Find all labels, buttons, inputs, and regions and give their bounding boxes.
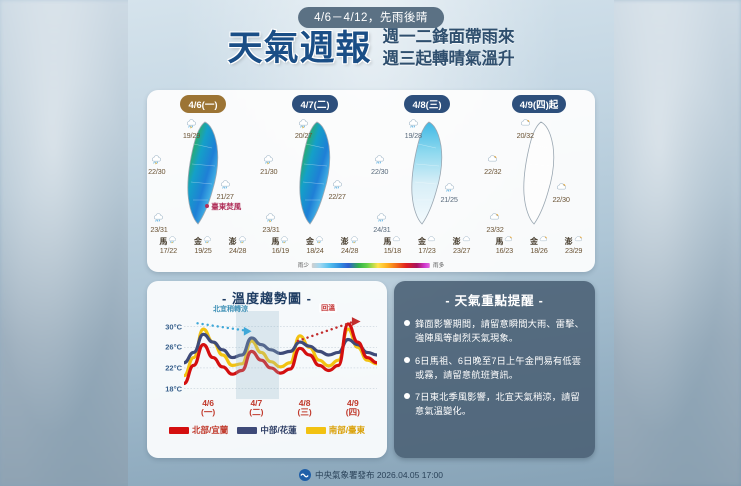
temp-value: 19/28 [405, 131, 422, 140]
offshore-islands-row: 馬17/22金19/25澎24/28 [151, 235, 255, 255]
region-temp-marker: 24/31 [373, 212, 390, 234]
region-temp-marker: 23/32 [486, 212, 503, 234]
chart-canvas: 北宜稍轉涼 回溫 [184, 311, 377, 399]
island-temp: 17/22 [159, 247, 177, 255]
x-axis-weekday: (三) [281, 408, 329, 417]
weather-highlights-card: - 天氣重點提醒 - 鋒面影響期間，請留意瞬間大雨、雷擊、強陣風等劇烈天氣現象。… [394, 281, 595, 458]
region-temp-marker: 19/29 [183, 118, 200, 140]
x-axis-weekday: (四) [329, 408, 377, 417]
taiwan-map: 19/2922/3021/2723/31臺東焚風 [147, 116, 259, 232]
offshore-island-item: 金18/26 [530, 235, 548, 255]
weather-rain-icon [183, 118, 200, 132]
bullet-icon [404, 393, 410, 399]
island-name: 馬 [271, 235, 289, 246]
region-temp-marker: 22/27 [328, 179, 345, 201]
temp-value: 23/31 [262, 225, 279, 234]
weather-rain-icon [168, 236, 177, 246]
offshore-island-item: 金17/23 [418, 235, 436, 255]
region-temp-marker: 21/25 [440, 182, 457, 204]
left-blurred-backdrop [0, 0, 135, 486]
page-title: 天氣週報 [227, 31, 371, 66]
weather-shower-icon [328, 179, 345, 193]
rainfall-legend-more: 雨多 [433, 261, 444, 269]
temp-value: 22/30 [552, 195, 569, 204]
weather-rain-icon [280, 236, 289, 246]
taiwan-map: 20/2721/3022/2723/31 [259, 116, 371, 232]
weather-cloud-icon [462, 236, 471, 246]
region-temp-marker: 19/28 [405, 118, 422, 140]
bullet-icon [404, 357, 410, 363]
weather-rain-to-cloud-icon [371, 154, 388, 168]
offshore-island-item: 金18/24 [306, 235, 324, 255]
day-badge[interactable]: 4/7(二) [292, 95, 337, 113]
offshore-island-item: 澎24/28 [341, 235, 359, 255]
day-badge[interactable]: 4/6(一) [180, 95, 225, 113]
rainfall-color-bar [312, 263, 430, 268]
island-name: 金 [418, 235, 436, 246]
chart-annotation-arrows [184, 311, 377, 399]
weather-rain-icon [315, 236, 324, 246]
island-name: 澎 [453, 235, 471, 246]
y-axis-tick: 26°C [165, 343, 182, 352]
subtitle: 週一二鋒面帶雨來 週三起轉晴氣溫升 [383, 27, 515, 71]
x-axis-tick: 4/7(二) [232, 399, 280, 419]
weather-rain-icon [295, 118, 312, 132]
weather-cloud-icon [427, 236, 436, 246]
island-temp: 16/19 [271, 247, 289, 255]
legend-label: 中部/花蓮 [260, 424, 296, 436]
forecast-day-column-4: 4/9(四)起20/3222/3222/3023/32馬16/23金18/26澎… [483, 90, 595, 272]
region-temp-marker: 20/27 [295, 118, 312, 140]
island-name: 金 [194, 235, 212, 246]
note-item: 6日馬祖、6日晚至7日上午金門易有低雲或霧，請留意航班資訊。 [404, 354, 585, 383]
weather-rain-icon [238, 236, 247, 246]
forecast-day-column-1: 4/6(一)19/2922/3021/2723/31臺東焚風馬17/22金19/… [147, 90, 259, 272]
island-temp: 18/24 [306, 247, 324, 255]
footer: 中央氣象署發布 2026.04.05 17:00 [128, 469, 614, 481]
note-text: 7日東北季風影響，北宜天氣稍涼，請留意氣溫變化。 [415, 390, 585, 419]
taiwan-map: 19/2822/3021/2524/31 [371, 116, 483, 232]
day-badge[interactable]: 4/8(三) [404, 95, 449, 113]
weather-poster: 4/6－4/12，先雨後晴 天氣週報 週一二鋒面帶雨來 週三起轉晴氣溫升 4/6… [128, 0, 614, 486]
region-temp-marker: 22/32 [484, 154, 501, 176]
weather-sun-cloud-icon [539, 236, 548, 246]
region-temp-marker: 22/30 [148, 154, 165, 176]
temp-value: 23/31 [150, 225, 167, 234]
weather-rain-icon [203, 236, 212, 246]
legend-label: 南部/臺東 [329, 424, 365, 436]
chart-x-axis: 4/6(一)4/7(二)4/8(三)4/9(四) [184, 399, 377, 419]
x-axis-tick: 4/6(一) [184, 399, 232, 419]
temp-value: 21/25 [440, 195, 457, 204]
legend-swatch [306, 427, 326, 434]
forecast-day-column-2: 4/7(二)20/2721/3022/2723/31馬16/19金18/24澎2… [259, 90, 371, 272]
notes-list: 鋒面影響期間，請留意瞬間大雨、雷擊、強陣風等劇烈天氣現象。6日馬祖、6日晚至7日… [404, 317, 585, 419]
island-temp: 15/18 [383, 247, 401, 255]
offshore-island-item: 澎23/29 [565, 235, 583, 255]
chart-y-axis: 30°C26°C22°C18°C [155, 311, 183, 399]
forecast-day-column-3: 4/8(三)19/2822/3021/2524/31馬15/18金17/23澎2… [371, 90, 483, 272]
offshore-island-item: 馬16/19 [271, 235, 289, 255]
annotation-warming: 回溫 [319, 303, 337, 313]
region-temp-marker: 21/27 [216, 179, 233, 201]
note-item: 鋒面影響期間，請留意瞬間大雨、雷擊、強陣風等劇烈天氣現象。 [404, 317, 585, 346]
weather-rain-to-cloud-icon [373, 212, 390, 226]
offshore-islands-row: 馬16/19金18/24澎24/28 [263, 235, 367, 255]
y-axis-tick: 18°C [165, 384, 182, 393]
note-text: 6日馬祖、6日晚至7日上午金門易有低雲或霧，請留意航班資訊。 [415, 354, 585, 383]
weather-cloud-icon [392, 236, 401, 246]
notes-title: - 天氣重點提醒 - [404, 290, 585, 309]
x-axis-tick: 4/9(四) [329, 399, 377, 419]
day-badge[interactable]: 4/9(四)起 [512, 95, 567, 113]
weather-sun-cloud-icon [486, 212, 503, 226]
weather-shower-icon [440, 182, 457, 196]
subtitle-line-2: 週三起轉晴氣溫升 [383, 49, 515, 71]
temp-value: 22/30 [371, 167, 388, 176]
island-temp: 24/28 [341, 247, 359, 255]
island-name: 澎 [565, 235, 583, 246]
bullet-icon [404, 320, 410, 326]
region-temp-marker: 22/30 [552, 182, 569, 204]
note-text: 鋒面影響期間，請留意瞬間大雨、雷擊、強陣風等劇烈天氣現象。 [415, 317, 585, 346]
chart-title: - 溫度趨勢圖 - [155, 288, 379, 307]
chart-legend: 北部/宜蘭中部/花蓮南部/臺東 [155, 424, 379, 436]
weather-rain-icon [262, 212, 279, 226]
weather-sun-cloud-icon [574, 236, 583, 246]
annotation-dot-icon [205, 204, 209, 208]
island-name: 馬 [495, 235, 513, 246]
island-temp: 19/25 [194, 247, 212, 255]
temp-value: 21/27 [216, 192, 233, 201]
weather-shower-icon [216, 179, 233, 193]
chart-legend-item[interactable]: 南部/臺東 [306, 424, 365, 436]
cwa-logo-icon [299, 469, 311, 481]
island-name: 金 [530, 235, 548, 246]
y-axis-tick: 30°C [165, 322, 182, 331]
weather-sun-cloud-icon [504, 236, 513, 246]
note-item: 7日東北季風影響，北宜天氣稍涼，請留意氣溫變化。 [404, 390, 585, 419]
y-axis-tick: 22°C [165, 363, 182, 372]
x-axis-weekday: (一) [184, 408, 232, 417]
x-axis-tick: 4/8(三) [281, 399, 329, 419]
offshore-island-item: 金19/25 [194, 235, 212, 255]
offshore-island-item: 澎24/28 [229, 235, 247, 255]
weather-rain-to-cloud-icon [405, 118, 422, 132]
date-range-pill: 4/6－4/12，先雨後晴 [298, 7, 444, 28]
offshore-island-item: 馬17/22 [159, 235, 177, 255]
weather-rain-icon [350, 236, 359, 246]
footer-text: 中央氣象署發布 2026.04.05 17:00 [315, 469, 443, 481]
offshore-island-item: 澎23/27 [453, 235, 471, 255]
legend-label: 北部/宜蘭 [192, 424, 228, 436]
temp-value: 22/30 [148, 167, 165, 176]
forecast-maps-grid: 4/6(一)19/2922/3021/2723/31臺東焚風馬17/22金19/… [147, 90, 595, 272]
right-blurred-backdrop [606, 0, 741, 486]
map-annotation-foehn: 臺東焚風 [205, 201, 241, 212]
offshore-island-item: 馬16/23 [495, 235, 513, 255]
rainfall-legend-less: 雨少 [298, 261, 309, 269]
chart-legend-item[interactable]: 北部/宜蘭 [169, 424, 228, 436]
offshore-islands-row: 馬15/18金17/23澎23/27 [375, 235, 479, 255]
chart-legend-item[interactable]: 中部/花蓮 [237, 424, 296, 436]
x-axis-weekday: (二) [232, 408, 280, 417]
temp-value: 24/31 [373, 225, 390, 234]
region-temp-marker: 22/30 [371, 154, 388, 176]
temp-value: 19/29 [183, 131, 200, 140]
subtitle-line-1: 週一二鋒面帶雨來 [383, 27, 515, 49]
temp-value: 20/32 [517, 131, 534, 140]
temp-value: 22/32 [484, 167, 501, 176]
island-temp: 17/23 [418, 247, 436, 255]
legend-swatch [237, 427, 257, 434]
island-temp: 16/23 [495, 247, 513, 255]
offshore-island-item: 馬15/18 [383, 235, 401, 255]
weather-sun-cloud-icon [484, 154, 501, 168]
island-temp: 23/27 [453, 247, 471, 255]
region-temp-marker: 23/31 [150, 212, 167, 234]
temp-value: 20/27 [295, 131, 312, 140]
taiwan-map: 20/3222/3222/3023/32 [483, 116, 595, 232]
island-temp: 24/28 [229, 247, 247, 255]
island-name: 馬 [159, 235, 177, 246]
chart-plot-area: 30°C26°C22°C18°C 北宜稍轉涼 回溫 4/6(一)4/7(二)4/… [155, 311, 379, 419]
legend-swatch [169, 427, 189, 434]
island-name: 馬 [383, 235, 401, 246]
title-row: 天氣週報 週一二鋒面帶雨來 週三起轉晴氣溫升 [128, 27, 614, 71]
island-temp: 18/26 [530, 247, 548, 255]
weather-rain-to-cloud-icon [150, 212, 167, 226]
region-temp-marker: 21/30 [260, 154, 277, 176]
island-name: 澎 [229, 235, 247, 246]
island-name: 金 [306, 235, 324, 246]
weather-sun-cloud-icon [552, 182, 569, 196]
forecast-maps-card: 4/6(一)19/2922/3021/2723/31臺東焚風馬17/22金19/… [147, 90, 595, 272]
island-name: 澎 [341, 235, 359, 246]
temp-value: 22/27 [328, 192, 345, 201]
island-temp: 23/29 [565, 247, 583, 255]
weather-rain-icon [148, 154, 165, 168]
annotation-cooling: 北宜稍轉涼 [211, 304, 250, 314]
offshore-islands-row: 馬16/23金18/26澎23/29 [487, 235, 591, 255]
temperature-trend-card: - 溫度趨勢圖 - 30°C26°C22°C18°C 北宜稍轉涼 回溫 4/6(… [147, 281, 387, 458]
weather-rain-icon [260, 154, 277, 168]
temp-value: 21/30 [260, 167, 277, 176]
weather-sun-cloud-icon [517, 118, 534, 132]
region-temp-marker: 23/31 [262, 212, 279, 234]
rainfall-legend: 雨少 雨多 [298, 261, 444, 269]
region-temp-marker: 20/32 [517, 118, 534, 140]
temp-value: 23/32 [486, 225, 503, 234]
